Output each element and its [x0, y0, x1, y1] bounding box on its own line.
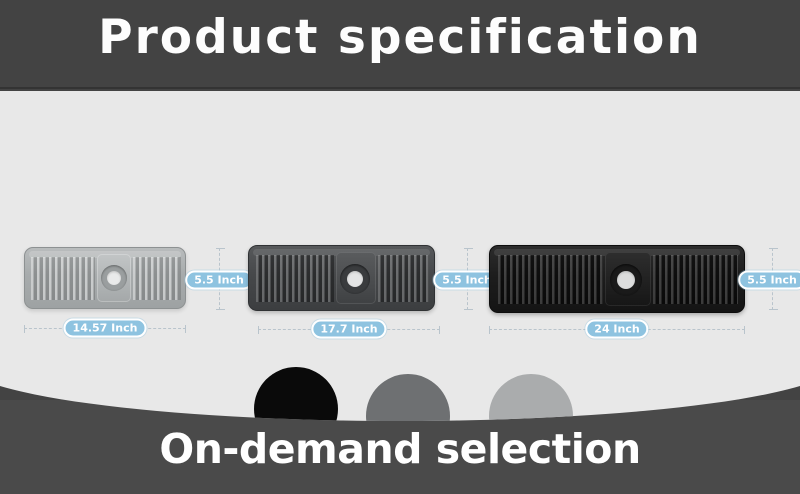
- drain-hole: [617, 271, 635, 289]
- mat-ribs-left: [498, 255, 603, 304]
- dimension-label-width-large: 24 Inch: [585, 320, 648, 339]
- mat-ribs-left: [256, 255, 334, 302]
- dim-cap-right: [185, 325, 186, 333]
- color-swatch-black[interactable]: [254, 367, 338, 421]
- dim-cap-right: [744, 326, 745, 334]
- mat-ribs-right: [653, 255, 738, 304]
- product-mat-large: [489, 245, 745, 313]
- dim-cap-right: [439, 326, 440, 334]
- dim-cap-top: [769, 248, 778, 249]
- product-mat-medium: [248, 245, 435, 311]
- dim-cap-bottom: [464, 309, 473, 310]
- mat-ribs-right: [133, 257, 181, 300]
- dimension-label-width-medium: 17.7 Inch: [311, 320, 386, 339]
- product-mat-small: [24, 247, 186, 309]
- stage-inner: 14.57 Inch 5.5 Inch 17.7 Inch: [0, 91, 800, 421]
- dimension-label-height-large: 5.5 Inch: [738, 271, 800, 290]
- dimension-label-width-small: 14.57 Inch: [64, 319, 147, 338]
- content-stage: 14.57 Inch 5.5 Inch 17.7 Inch: [0, 91, 800, 421]
- mat-ribs-right: [378, 255, 429, 302]
- dim-cap-left: [489, 326, 490, 334]
- dimension-label-height-small: 5.5 Inch: [185, 271, 253, 290]
- dim-cap-top: [216, 248, 225, 249]
- footer-title: On-demand selection: [0, 425, 800, 473]
- product-specification-infographic: Product specification 14.57 Inch: [0, 0, 800, 494]
- drain-hole: [347, 271, 363, 287]
- color-swatch-light-grey[interactable]: [489, 374, 573, 421]
- mat-ribs-left: [31, 257, 95, 300]
- dim-cap-bottom: [769, 309, 778, 310]
- dim-cap-left: [24, 325, 25, 333]
- drain-hole: [107, 271, 121, 285]
- color-swatch-grey[interactable]: [366, 374, 450, 421]
- dim-cap-bottom: [216, 309, 225, 310]
- page-title: Product specification: [0, 10, 800, 65]
- dim-cap-top: [464, 248, 473, 249]
- dim-cap-left: [258, 326, 259, 334]
